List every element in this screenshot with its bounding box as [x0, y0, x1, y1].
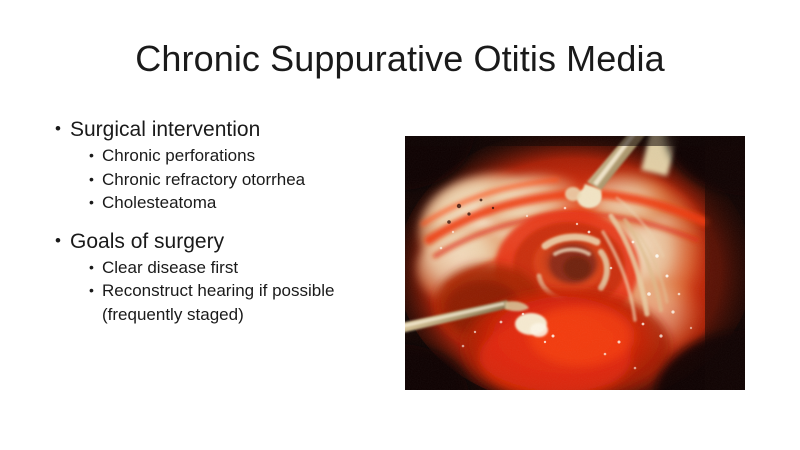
surgical-scene-graphic: [405, 136, 745, 390]
bullet-level2-cholesteatoma: • Cholesteatoma: [88, 191, 382, 214]
bullet-dot-icon: •: [89, 144, 94, 168]
bullet-list: • Surgical intervention • Chronic perfor…: [52, 116, 382, 326]
bullet-dot-icon: •: [55, 228, 61, 254]
bullet-level1-goals-of-surgery: • Goals of surgery: [52, 228, 382, 255]
photo-grain: [405, 136, 745, 390]
bullet-dot-icon: •: [55, 116, 61, 142]
bullet-dot-icon: •: [89, 191, 94, 215]
bullet-level2-reconstruct-hearing: • Reconstruct hearing if possible (frequ…: [88, 279, 382, 326]
bullet-label: Cholesteatoma: [102, 193, 216, 212]
slide-canvas: Chronic Suppurative Otitis Media • Surgi…: [0, 0, 800, 450]
bullet-label: Clear disease first: [102, 258, 238, 277]
bullet-label: Surgical intervention: [70, 118, 260, 141]
bullet-dot-icon: •: [89, 279, 94, 303]
bullet-label: Reconstruct hearing if possible (frequen…: [102, 281, 334, 323]
bullet-level2-chronic-perforations: • Chronic perforations: [88, 144, 382, 167]
bullet-level1-surgical-intervention: • Surgical intervention: [52, 116, 382, 143]
bullet-level2-chronic-refractory-otorrhea: • Chronic refractory otorrhea: [88, 168, 382, 191]
bullet-label: Goals of surgery: [70, 230, 224, 253]
bullet-group-spacer: [52, 215, 382, 228]
surgical-photograph-image: [405, 136, 745, 390]
bullet-dot-icon: •: [89, 168, 94, 192]
bullet-label: Chronic perforations: [102, 146, 255, 165]
bullet-dot-icon: •: [89, 256, 94, 280]
bullet-label: Chronic refractory otorrhea: [102, 170, 305, 189]
surgical-photograph: [405, 136, 745, 390]
bullet-level2-clear-disease-first: • Clear disease first: [88, 256, 382, 279]
page-title: Chronic Suppurative Otitis Media: [0, 38, 800, 79]
